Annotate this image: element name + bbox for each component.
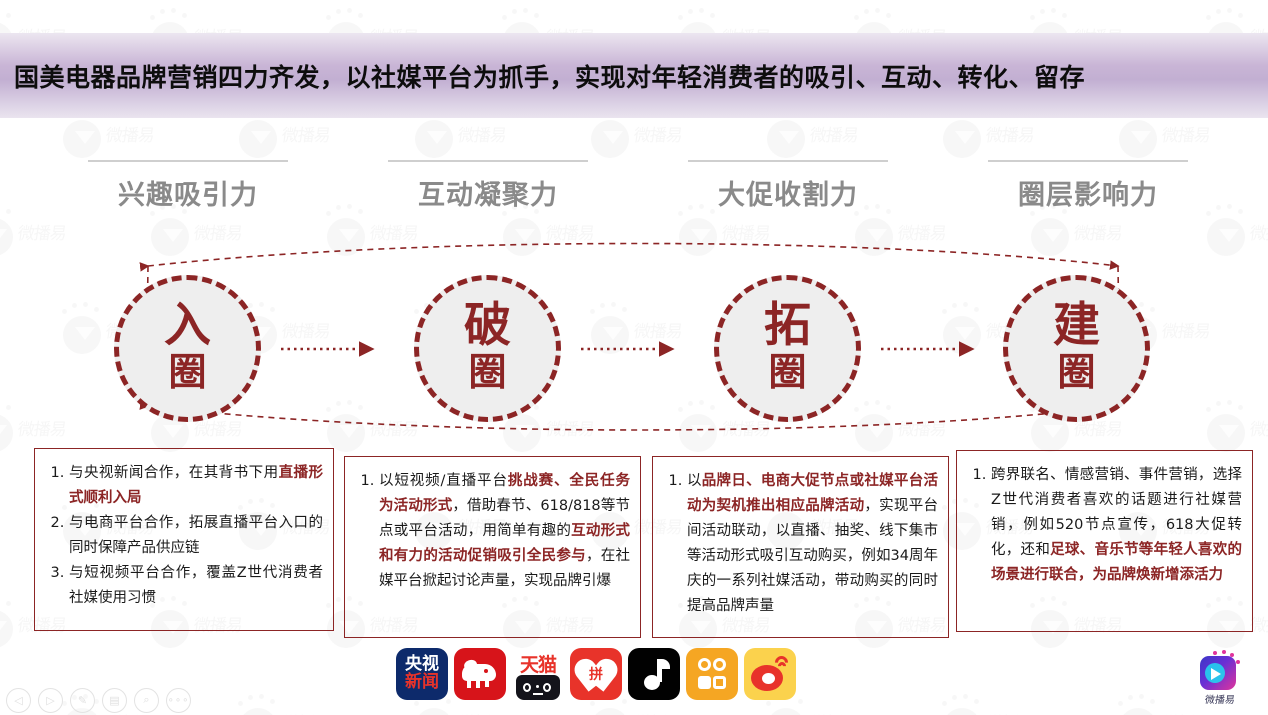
watermark-mark (0, 596, 20, 646)
column-header-2: 互动凝聚力 (388, 160, 588, 212)
brand-dot (1230, 653, 1234, 657)
watermark-mark (938, 694, 988, 715)
jd-dog-leg (485, 679, 489, 687)
tmall-cat-eye (543, 683, 551, 692)
detail-box-1: 与央视新闻合作，在其背书下用直播形式顺利入局与电商平台合作，拓展直播平台入口的同… (34, 448, 334, 631)
detail-list: 跨界联名、情感营销、事件营销，选择Z世代消费者喜欢的话题进行社媒营销，例如520… (965, 463, 1242, 588)
jd-dog-eye (484, 669, 488, 673)
detail-list-item: 以品牌日、电商大促节点或社媒平台活动为契机推出相应品牌活动，实现平台间活动联动，… (687, 469, 938, 619)
column-label: 互动凝聚力 (388, 173, 588, 212)
column-header-3: 大促收割力 (688, 160, 888, 212)
douyin-music-note (644, 659, 666, 689)
column-rule (688, 160, 888, 162)
watermark: 微播易 (234, 692, 354, 715)
watermark-text: 微播易 (808, 121, 860, 146)
douyin-note-flag (659, 659, 670, 669)
watermark-mark (1114, 694, 1164, 715)
jd-dog-leg (467, 679, 471, 688)
tmall-wordmark: 天猫 (512, 648, 564, 678)
kuaishou-shape (698, 676, 711, 689)
watermark-text: 微播易 (1160, 121, 1212, 146)
column-rule (88, 160, 288, 162)
zoom-search-button[interactable]: ⌕ (134, 688, 159, 713)
stage-circle-char-top: 拓 (764, 302, 811, 349)
watermark-text: 微播易 (280, 709, 332, 715)
weibo-logo (744, 648, 796, 700)
brand-dot (1222, 650, 1226, 654)
detail-list: 与央视新闻合作，在其背书下用直播形式顺利入局与电商平台合作，拓展直播平台入口的同… (43, 461, 323, 611)
tmall-logo: 天猫 (512, 648, 564, 700)
stage-circle-char-top: 建 (1053, 302, 1100, 349)
tmall-cat-eye (523, 683, 531, 692)
tmall-text: 天猫 (520, 650, 556, 677)
previous-slide-button[interactable]: ◁ (6, 688, 31, 713)
detail-box-3: 以品牌日、电商大促节点或社媒平台活动为契机推出相应品牌活动，实现平台间活动联动，… (652, 456, 949, 638)
next-slide-button[interactable]: ▷ (38, 688, 63, 713)
watermark-text: 微播易 (984, 121, 1036, 146)
slide-header-banner: 国美电器品牌营销四力齐发，以社媒平台为抓手，实现对年轻消费者的吸引、互动、转化、… (0, 33, 1268, 118)
tmall-cat-nose (536, 685, 539, 688)
column-rule (988, 160, 1188, 162)
brand-dot (1213, 651, 1217, 655)
body-text: 与央视新闻合作，在其背书下用 (69, 465, 279, 481)
kuaishou-shape (698, 658, 711, 671)
stage-circle-4[interactable]: 建 圈 (1003, 275, 1150, 422)
brand-text: 微播易 (1195, 691, 1245, 706)
watermark-text: 微播易 (280, 121, 332, 146)
stage-circle-char-bottom: 圈 (1057, 351, 1095, 395)
watermark-text: 微播易 (104, 121, 156, 146)
play-triangle-icon (1211, 668, 1221, 680)
pinduoduo-logo: 拼 (570, 648, 622, 700)
body-text: ，实现平台间活动联动，以直播、抽奖、线下集市等活动形式吸引互动购买，例如34周年… (687, 498, 938, 614)
more-options-button[interactable]: ∘∘∘ (166, 688, 191, 713)
stage-circle-char-bottom: 圈 (468, 351, 506, 395)
douyin-logo (628, 648, 680, 700)
weibo-pupil (762, 673, 775, 684)
detail-list-item: 以短视频/直播平台挑战赛、全民任务为活动形式，借助春节、618/818等节点或平… (379, 469, 630, 594)
column-header-4: 圈层影响力 (988, 160, 1188, 212)
body-text: 与电商平台合作，拓展直播平台入口的同时保障产品供应链 (69, 515, 323, 556)
column-label: 大促收割力 (688, 173, 888, 212)
kuaishou-logo (686, 648, 738, 700)
page-title: 国美电器品牌营销四力齐发，以社媒平台为抓手，实现对年轻消费者的吸引、互动、转化、… (0, 58, 1085, 94)
watermark-text: 微播易 (632, 121, 684, 146)
detail-list-item: 与短视频平台合作，覆盖Z世代消费者社媒使用习惯 (69, 561, 323, 611)
jd-dog-leg (476, 679, 480, 688)
detail-box-2: 以短视频/直播平台挑战赛、全民任务为活动形式，借助春节、618/818等节点或平… (344, 456, 641, 638)
stage-circle-char-bottom: 圈 (768, 351, 806, 395)
body-text: 以短视频/直播平台 (379, 473, 508, 489)
detail-list-item: 跨界联名、情感营销、事件营销，选择Z世代消费者喜欢的话题进行社媒营销，例如520… (991, 463, 1242, 588)
column-rule (388, 160, 588, 162)
jd-logo (454, 648, 506, 700)
watermark-text: 微播易 (808, 709, 860, 715)
stage-circle-1[interactable]: 入 圈 (114, 275, 261, 422)
brand-dot (1236, 660, 1240, 664)
column-label: 圈层影响力 (988, 173, 1188, 212)
detail-box-4: 跨界联名、情感营销、事件营销，选择Z世代消费者喜欢的话题进行社媒营销，例如520… (956, 450, 1253, 632)
stage-circle-2[interactable]: 破 圈 (414, 275, 561, 422)
watermark-text: 微播易 (632, 709, 684, 715)
column-label: 兴趣吸引力 (88, 173, 288, 212)
cctv-line2: 新闻 (405, 674, 439, 692)
viewer-toolbar: ◁▷✎▤⌕∘∘∘ (6, 688, 191, 713)
body-text: 以 (687, 473, 702, 489)
pdd-text: 拼 (570, 648, 622, 700)
column-header-1: 兴趣吸引力 (88, 160, 288, 212)
watermark-text: 微播易 (984, 709, 1036, 715)
pen-tool-button[interactable]: ✎ (70, 688, 95, 713)
stage-circle-char-bottom: 圈 (168, 351, 206, 395)
watermark-mark (234, 694, 284, 715)
tmall-cat-mouth (533, 693, 543, 695)
slide-canvas: 微播易微播易微播易微播易微播易微播易微播易微播易微播易微播易微播易微播易微播易微… (0, 0, 1268, 715)
watermark-text: 微播易 (456, 709, 508, 715)
flow-diagram: 入 圈 破 圈 拓 圈 建 圈 (0, 240, 1268, 445)
stage-circle-char-top: 入 (164, 302, 211, 349)
detail-list: 以短视频/直播平台挑战赛、全民任务为活动形式，借助春节、618/818等节点或平… (353, 469, 630, 594)
stage-circle-3[interactable]: 拓 圈 (714, 275, 861, 422)
watermark-text: 微播易 (1160, 709, 1212, 715)
douyin-note-head (644, 675, 660, 690)
detail-list: 以品牌日、电商大促节点或社媒平台活动为契机推出相应品牌活动，实现平台间活动联动，… (661, 469, 938, 619)
watermark: 微播易 (938, 692, 1058, 715)
stage-circle-char-top: 破 (464, 302, 511, 349)
cctv-news-logo: 央视 新闻 (396, 648, 448, 700)
grid-view-button[interactable]: ▤ (102, 688, 127, 713)
weiboyi-brand-logo: 微播易 (1196, 650, 1244, 702)
watermark-text: 微播易 (456, 121, 508, 146)
partner-logo-row: 央视 新闻 天猫 拼 (396, 648, 796, 700)
detail-list-item: 与电商平台合作，拓展直播平台入口的同时保障产品供应链 (69, 511, 323, 561)
detail-list-item: 与央视新闻合作，在其背书下用直播形式顺利入局 (69, 461, 323, 511)
kuaishou-shape (713, 676, 726, 689)
kuaishou-shape (713, 658, 726, 671)
body-text: 与短视频平台合作，覆盖Z世代消费者社媒使用习惯 (69, 565, 323, 606)
